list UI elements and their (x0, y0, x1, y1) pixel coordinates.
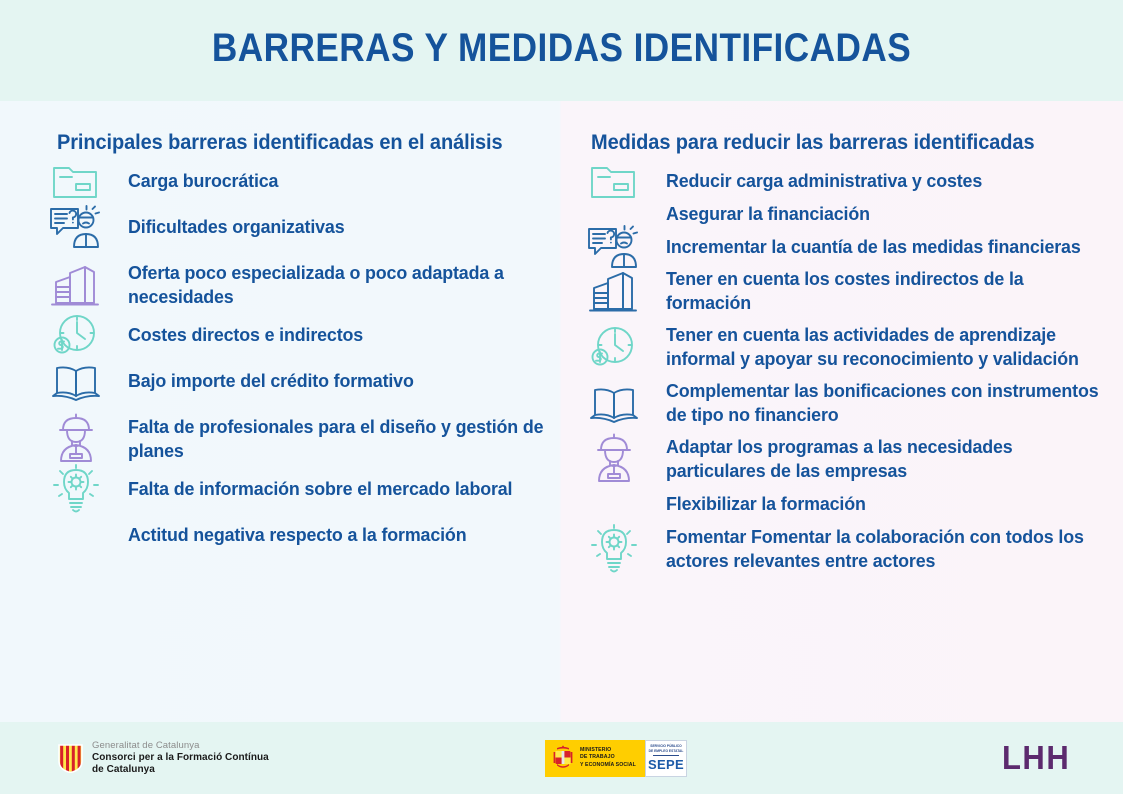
ministerio-sepe-logo: MINISTERIO DE TRABAJO Y ECONOMÍA SOCIAL … (545, 722, 687, 794)
lhh-wordmark: LHH (1002, 739, 1070, 778)
list-item: Complementar las bonificaciones con inst… (666, 379, 1107, 427)
lightbulb-gear-icon (48, 463, 104, 515)
list-item: Bajo importe del crédito formativo (128, 369, 545, 393)
list-item: Actitud negativa respecto a la formación (128, 523, 545, 547)
sepe-wordmark: SEPE (648, 757, 684, 772)
header-band: BARRERAS Y MEDIDAS IDENTIFICADAS (0, 0, 1123, 101)
right-column-rows: Reducir carga administrativa y costesAse… (578, 169, 1123, 573)
infographic-page: BARRERAS Y MEDIDAS IDENTIFICADAS Princip… (0, 0, 1123, 794)
sepe-subtitle-line2: DE EMPLEO ESTATAL (649, 749, 684, 753)
list-item: Costes directos e indirectos (128, 323, 545, 347)
list-item: Adaptar los programas a las necesidades … (666, 435, 1107, 483)
list-item: Tener en cuenta los costes indirectos de… (666, 267, 1107, 315)
list-item: Falta de información sobre el mercado la… (128, 477, 545, 501)
footer-band: Generalitat de Catalunya Consorci per a … (0, 722, 1123, 794)
clock-money-icon (48, 309, 104, 361)
list-item: Tener en cuenta las actividades de apren… (666, 323, 1107, 371)
generalitat-text: Generalitat de Catalunya Consorci per a … (92, 740, 269, 776)
buildings-icon (586, 265, 642, 317)
list-item: Flexibilizar la formación (666, 492, 1107, 516)
page-title: BARRERAS Y MEDIDAS IDENTIFICADAS (67, 26, 1055, 71)
ministerio-line1: MINISTERIO (580, 747, 636, 755)
ministerio-box: MINISTERIO DE TRABAJO Y ECONOMÍA SOCIAL (545, 740, 645, 777)
left-column: Principales barreras identificadas en el… (40, 130, 560, 569)
ministerio-text: MINISTERIO DE TRABAJO Y ECONOMÍA SOCIAL (580, 747, 636, 770)
list-item: Oferta poco especializada o poco adaptad… (128, 261, 545, 309)
generalitat-line2: Consorci per a la Formació Contínua (92, 752, 269, 764)
buildings-icon (48, 259, 104, 311)
ministerio-line2: DE TRABAJO (580, 754, 636, 762)
generalitat-logo: Generalitat de Catalunya Consorci per a … (58, 722, 269, 794)
question-person-icon (48, 201, 104, 253)
list-item: Reducir carga administrativa y costes (666, 169, 1107, 193)
sepe-divider (653, 755, 679, 756)
folder-icon (586, 155, 642, 207)
open-book-icon (586, 377, 642, 429)
list-item: Carga burocrática (128, 169, 545, 193)
right-item-list: Reducir carga administrativa y costesAse… (666, 169, 1123, 573)
sepe-box: SERVICIO PÚBLICO DE EMPLEO ESTATAL SEPE (645, 740, 687, 777)
generalitat-line3: de Catalunya (92, 764, 269, 776)
list-item: Asegurar la financiación (666, 202, 1107, 226)
lightbulb-gear-icon (586, 523, 642, 575)
worker-helmet-icon (586, 433, 642, 485)
lhh-logo: LHH (1002, 722, 1070, 794)
left-item-list: Carga burocráticaDificultades organizati… (128, 169, 560, 547)
generalitat-line1: Generalitat de Catalunya (92, 740, 269, 752)
catalonia-shield-icon (58, 744, 83, 773)
folder-icon (48, 155, 104, 207)
left-column-heading: Principales barreras identificadas en el… (57, 130, 525, 155)
spain-coat-of-arms-icon (551, 745, 575, 771)
list-item: Falta de profesionales para el diseño y … (128, 415, 545, 463)
list-item: Dificultades organizativas (128, 215, 545, 239)
list-item: Fomentar Fomentar la colaboración con to… (666, 525, 1107, 573)
right-column-heading: Medidas para reducir las barreras identi… (591, 130, 1086, 155)
list-item: Incrementar la cuantía de las medidas fi… (666, 235, 1107, 259)
right-column: Medidas para reducir las barreras identi… (578, 130, 1123, 581)
clock-money-icon (586, 321, 642, 373)
worker-helmet-icon (48, 413, 104, 465)
left-column-rows: Carga burocráticaDificultades organizati… (40, 169, 560, 547)
ministerio-line3: Y ECONOMÍA SOCIAL (580, 762, 636, 770)
open-book-icon (48, 355, 104, 407)
